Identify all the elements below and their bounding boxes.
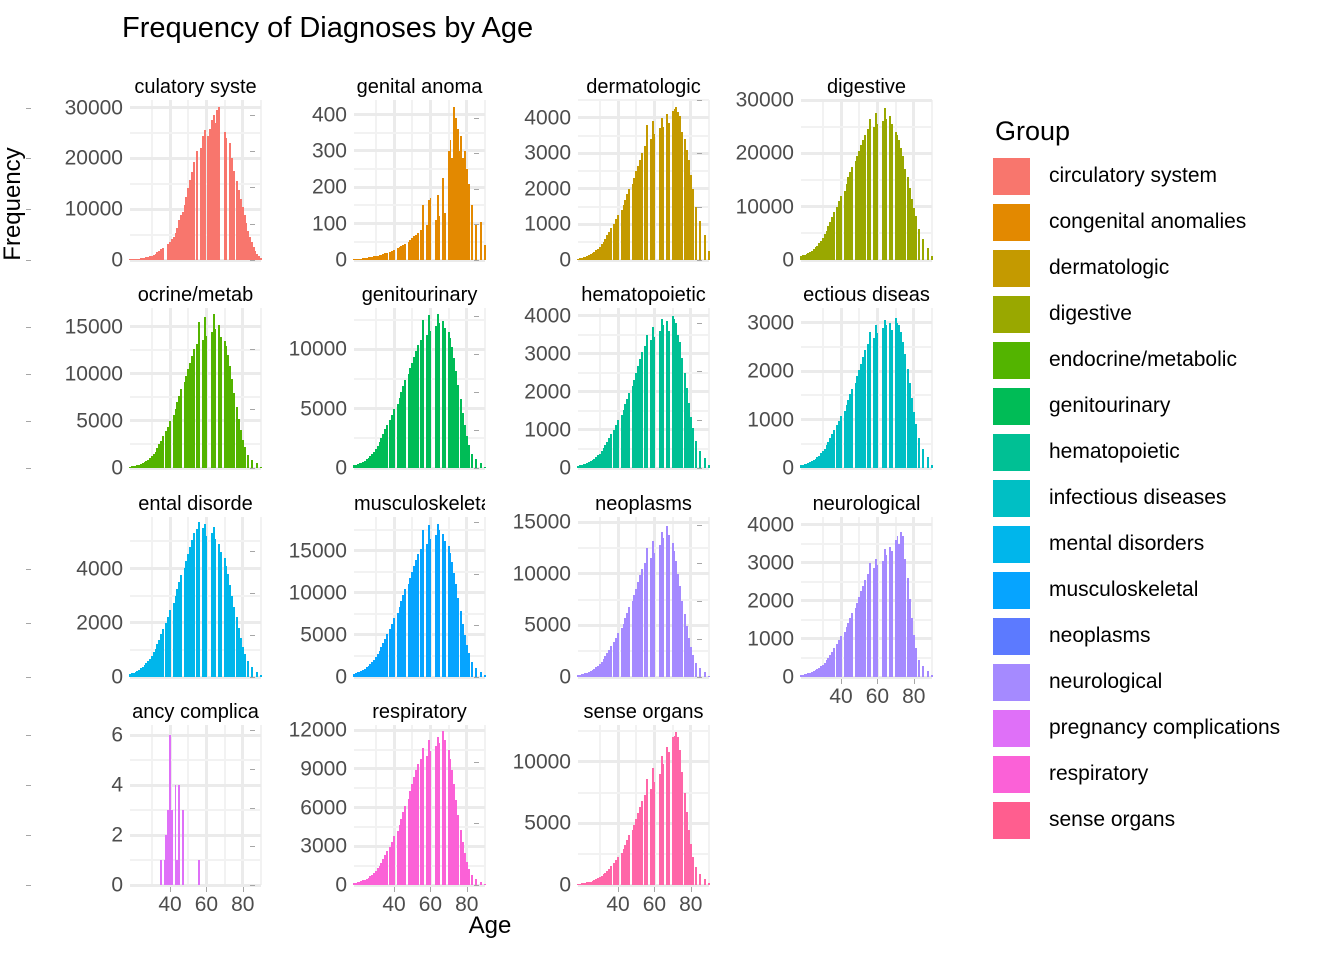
y-tick-label: 15000	[513, 512, 571, 533]
y-axis-ticks: 0100200300400	[255, 100, 347, 260]
y-axis-ticks: 0100020003000	[702, 308, 794, 468]
histogram-bar	[422, 748, 424, 885]
y-tick-mark	[697, 260, 702, 261]
y-tick-label: 0	[782, 250, 794, 271]
y-tick-label: 3000	[524, 343, 571, 364]
histogram-bar	[695, 663, 697, 677]
histogram-bar	[169, 610, 171, 677]
histogram-bar	[668, 331, 670, 468]
histogram-bar	[886, 325, 888, 468]
histogram-bar	[851, 613, 853, 677]
histogram-bar	[422, 205, 424, 260]
histogram-bar	[695, 867, 697, 885]
y-tick-label: 0	[559, 250, 571, 271]
plot-panel	[578, 308, 709, 468]
histogram-bar	[444, 740, 446, 885]
histogram-bar	[160, 860, 162, 885]
legend-swatch-icon	[993, 342, 1030, 379]
histogram-bars	[578, 100, 709, 260]
y-tick-mark	[474, 762, 479, 763]
histogram-bar	[393, 409, 395, 468]
legend-label: neoplasms	[1049, 624, 1151, 648]
histogram-bar	[430, 331, 432, 468]
chart-root: Frequency of Diagnoses by Age Frequency …	[0, 0, 1344, 960]
y-axis-ticks: 0246	[31, 725, 123, 885]
y-tick-label: 4000	[76, 558, 123, 579]
histogram-bar	[699, 451, 701, 468]
histogram-bar	[646, 125, 648, 260]
x-tick-mark	[430, 887, 431, 892]
y-axis-ticks: 0500010000	[479, 725, 571, 885]
y-axis-ticks: 0100002000030000	[31, 100, 123, 260]
y-tick-label: 4000	[524, 107, 571, 128]
legend-item[interactable]: congenital anomalies	[993, 199, 1343, 245]
histogram-bar	[840, 196, 842, 260]
histogram-bar	[904, 559, 906, 677]
histogram-bar	[251, 460, 253, 468]
y-tick-label: 0	[335, 875, 347, 896]
histogram-bar	[915, 424, 917, 468]
histogram-bar	[840, 636, 842, 677]
legend-label: pregnancy complications	[1049, 716, 1280, 740]
histogram-bar	[891, 330, 893, 468]
y-tick-mark	[697, 371, 702, 372]
histogram-bar	[699, 221, 701, 260]
histogram-bar	[233, 171, 235, 260]
histogram-bar	[430, 539, 432, 677]
histogram-bar	[457, 385, 459, 468]
y-tick-label: 1000	[747, 628, 794, 649]
y-tick-label: 1000	[747, 409, 794, 430]
histogram-bar	[178, 785, 180, 885]
y-tick-mark	[474, 430, 479, 431]
histogram-bar	[927, 457, 929, 468]
y-tick-label: 0	[782, 458, 794, 479]
legend-label: congenital anomalies	[1049, 210, 1246, 234]
facet-strip-label: ocrine/metab	[130, 282, 261, 308]
histogram-bar	[404, 589, 406, 677]
y-tick-mark	[474, 677, 479, 678]
y-tick-mark	[26, 569, 31, 570]
histogram-bar	[663, 325, 665, 468]
y-axis-ticks: 050001000015000	[255, 517, 347, 677]
histogram-bar	[864, 135, 866, 260]
y-tick-mark	[250, 409, 255, 410]
histogram-bar	[617, 633, 619, 677]
legend-label: neurological	[1049, 670, 1162, 694]
histogram-bar	[922, 239, 924, 260]
histogram-bar	[457, 598, 459, 677]
histogram-bar	[220, 337, 222, 468]
histogram-bar	[891, 551, 893, 677]
histogram-bar	[417, 233, 419, 260]
y-tick-mark	[250, 115, 255, 116]
y-tick-label: 0	[111, 667, 123, 688]
histogram-bar	[699, 874, 701, 885]
histogram-bar	[468, 184, 470, 260]
histogram-bar	[668, 752, 670, 885]
facet-strip-label: ectious diseas	[801, 282, 932, 308]
legend-swatch-icon	[993, 572, 1030, 609]
plot-panel	[578, 517, 709, 677]
histogram-bar	[931, 675, 933, 677]
y-tick-label: 10000	[65, 199, 123, 220]
plot-panel	[354, 308, 485, 468]
y-tick-label: 2	[111, 825, 123, 846]
legend-item[interactable]: pregnancy complications	[993, 705, 1343, 751]
histogram-bar	[444, 541, 446, 677]
y-tick-label: 5000	[524, 615, 571, 636]
histogram-bar	[468, 445, 470, 468]
y-tick-mark	[26, 108, 31, 109]
legend-item[interactable]: respiratory	[993, 751, 1343, 797]
histogram-bar	[439, 530, 441, 677]
plot-panel	[801, 100, 932, 260]
histogram-bar	[393, 250, 395, 260]
legend-swatch-icon	[993, 388, 1030, 425]
histogram-bar	[681, 772, 683, 885]
y-axis-ticks: 050001000015000	[31, 308, 123, 468]
y-tick-mark	[26, 785, 31, 786]
facet-strip-label: digestive	[801, 74, 932, 100]
histogram-bar	[386, 253, 388, 260]
histogram-bars	[130, 725, 261, 885]
histogram-bar	[471, 662, 473, 677]
y-tick-label: 4000	[524, 305, 571, 326]
histogram-bar	[193, 533, 195, 677]
histogram-bar	[162, 248, 164, 260]
histogram-bar	[610, 646, 612, 677]
y-tick-mark	[250, 260, 255, 261]
histogram-bar	[251, 667, 253, 677]
plot-panel	[578, 725, 709, 885]
histogram-bar	[833, 430, 835, 468]
histogram-bar	[628, 189, 630, 260]
legend-item[interactable]: genitourinary	[993, 383, 1343, 429]
x-tick-label: 40	[382, 894, 405, 915]
y-tick-label: 100	[312, 213, 347, 234]
y-tick-mark	[250, 551, 255, 552]
y-tick-label: 0	[335, 667, 347, 688]
histogram-bar	[833, 212, 835, 260]
histogram-bar	[226, 138, 228, 260]
histogram-bar	[668, 535, 670, 677]
y-tick-mark	[26, 260, 31, 261]
histogram-bar	[904, 169, 906, 260]
histogram-bar	[681, 132, 683, 260]
histogram-bar	[193, 162, 195, 260]
legend-label: infectious diseases	[1049, 486, 1226, 510]
histogram-bar	[468, 653, 470, 677]
y-tick-mark	[250, 187, 255, 188]
legend-item[interactable]: musculoskeletal	[993, 567, 1343, 613]
histogram-bar	[198, 322, 200, 468]
legend-item[interactable]: hematopoietic	[993, 429, 1343, 475]
histogram-bar	[393, 836, 395, 885]
x-tick-label: 40	[158, 894, 181, 915]
histogram-bars	[130, 308, 261, 468]
histogram-bar	[198, 860, 200, 885]
x-tick-label: 80	[902, 686, 925, 707]
histogram-bar	[927, 248, 929, 260]
plot-panel	[578, 100, 709, 260]
y-tick-mark	[26, 735, 31, 736]
y-tick-mark	[250, 730, 255, 731]
legend-item[interactable]: neurological	[993, 659, 1343, 705]
y-tick-mark	[26, 158, 31, 159]
histogram-bar	[704, 879, 706, 885]
histogram-bars	[130, 517, 261, 677]
plot-panel	[801, 308, 932, 468]
histogram-bar	[457, 815, 459, 885]
histogram-bars	[801, 308, 932, 468]
legend-label: circulatory system	[1049, 164, 1217, 188]
legend-swatch-icon	[993, 158, 1030, 195]
y-tick-mark	[474, 118, 479, 119]
legend-item[interactable]: neoplasms	[993, 613, 1343, 659]
y-tick-mark	[250, 808, 255, 809]
y-tick-label: 15000	[289, 540, 347, 561]
histogram-bars	[801, 517, 932, 677]
histogram-bar	[922, 666, 924, 677]
histogram-bar	[891, 124, 893, 260]
plot-panel	[354, 725, 485, 885]
y-tick-label: 30000	[736, 90, 794, 111]
histogram-bar	[244, 447, 246, 468]
histogram-bar	[475, 224, 477, 260]
y-tick-label: 2000	[524, 178, 571, 199]
y-tick-mark	[474, 189, 479, 190]
histogram-bar	[386, 851, 388, 885]
histogram-bar	[886, 555, 888, 677]
histogram-bar	[244, 654, 246, 677]
y-tick-label: 3000	[747, 552, 794, 573]
legend-swatch-icon	[993, 250, 1030, 287]
histogram-bar	[877, 124, 879, 260]
y-tick-label: 4000	[747, 514, 794, 535]
histogram-bar	[904, 354, 906, 468]
legend-label: dermatologic	[1049, 256, 1169, 280]
histogram-bars	[578, 725, 709, 885]
y-tick-label: 2000	[747, 361, 794, 382]
y-tick-label: 9000	[300, 758, 347, 779]
y-tick-mark	[474, 392, 479, 393]
histogram-bar	[206, 336, 208, 468]
y-axis-ticks: 030006000900012000	[255, 725, 347, 885]
histogram-bar	[692, 428, 694, 468]
x-tick-mark	[914, 679, 915, 684]
histogram-bar	[439, 323, 441, 468]
x-axis: 406080	[354, 887, 485, 917]
y-tick-label: 2000	[76, 612, 123, 633]
histogram-bar	[922, 449, 924, 468]
y-tick-label: 0	[111, 250, 123, 271]
histogram-bar	[386, 634, 388, 677]
legend-label: musculoskeletal	[1049, 578, 1198, 602]
y-axis-ticks: 01000200030004000	[702, 517, 794, 677]
histogram-bar	[833, 648, 835, 677]
x-axis: 406080	[801, 679, 932, 709]
facet-strip-label: dermatologic	[578, 74, 709, 100]
y-tick-label: 0	[111, 458, 123, 479]
histogram-bar	[692, 189, 694, 260]
y-tick-label: 20000	[65, 148, 123, 169]
x-tick-mark	[206, 887, 207, 892]
histogram-bar	[404, 244, 406, 260]
histogram-bar	[169, 421, 171, 468]
histogram-bar	[641, 153, 643, 260]
histogram-bar	[918, 438, 920, 468]
y-tick-label: 0	[782, 667, 794, 688]
histogram-bar	[220, 552, 222, 677]
y-tick-mark	[474, 823, 479, 824]
y-tick-label: 0	[335, 458, 347, 479]
y-tick-label: 5000	[300, 398, 347, 419]
y-tick-label: 3000	[747, 312, 794, 333]
histogram-bar	[927, 671, 929, 677]
histogram-bar	[471, 875, 473, 885]
legend-swatch-icon	[993, 618, 1030, 655]
y-tick-mark	[250, 846, 255, 847]
histogram-bar	[610, 228, 612, 260]
histogram-bar	[851, 167, 853, 260]
histogram-bar	[654, 134, 656, 260]
y-tick-mark	[26, 677, 31, 678]
histogram-bar	[404, 806, 406, 885]
y-tick-mark	[474, 316, 479, 317]
x-tick-label: 60	[643, 894, 666, 915]
histogram-bar	[654, 553, 656, 677]
y-tick-mark	[26, 623, 31, 624]
histogram-bar	[641, 801, 643, 885]
histogram-bars	[578, 308, 709, 468]
histogram-bar	[471, 205, 473, 260]
histogram-bar	[215, 329, 217, 468]
x-tick-label: 40	[606, 894, 629, 915]
histogram-bars	[801, 100, 932, 260]
legend-title: Group	[995, 118, 1343, 145]
x-tick-mark	[691, 887, 692, 892]
histogram-bar	[628, 393, 630, 468]
histogram-bar	[695, 441, 697, 468]
y-tick-mark	[697, 639, 702, 640]
legend-item[interactable]: circulatory system	[993, 153, 1343, 199]
histogram-bar	[931, 465, 933, 468]
y-tick-mark	[250, 468, 255, 469]
legend-item[interactable]: sense organs	[993, 797, 1343, 843]
histogram-bar	[869, 119, 871, 260]
legend-item[interactable]: dermatologic	[993, 245, 1343, 291]
y-axis-ticks: 0500010000	[255, 308, 347, 468]
histogram-bar	[877, 333, 879, 468]
y-tick-label: 0	[559, 875, 571, 896]
y-tick-mark	[250, 593, 255, 594]
histogram-bar	[444, 328, 446, 468]
histogram-bar	[247, 661, 249, 677]
y-tick-mark	[474, 625, 479, 626]
y-tick-label: 3000	[524, 143, 571, 164]
legend-item[interactable]: endocrine/metabolic	[993, 337, 1343, 383]
y-tick-label: 10000	[289, 339, 347, 360]
y-tick-mark	[474, 522, 479, 523]
histogram-bar	[404, 380, 406, 468]
histogram-bars	[354, 100, 485, 260]
histogram-bar	[182, 810, 184, 885]
x-tick-mark	[877, 679, 878, 684]
y-tick-label: 5000	[300, 624, 347, 645]
facet-strip-label: ental disorde	[130, 491, 261, 517]
histogram-bar	[628, 835, 630, 885]
y-tick-label: 0	[559, 458, 571, 479]
histogram-bar	[475, 459, 477, 468]
histogram-bar	[918, 229, 920, 260]
facet-strip-label: neurological	[801, 491, 932, 517]
histogram-bar	[430, 751, 432, 885]
facet-strip-label: genital anoma	[354, 74, 485, 100]
y-tick-mark	[250, 769, 255, 770]
x-tick-label: 40	[829, 686, 852, 707]
histogram-bar	[681, 601, 683, 677]
y-tick-label: 5000	[524, 813, 571, 834]
y-tick-label: 300	[312, 140, 347, 161]
y-axis-ticks: 0100002000030000	[702, 100, 794, 260]
histogram-bar	[180, 575, 182, 677]
histogram-bar	[417, 554, 419, 677]
legend-label: genitourinary	[1049, 394, 1170, 418]
legend-item[interactable]: mental disorders	[993, 521, 1343, 567]
legend-swatch-icon	[993, 296, 1030, 333]
legend-items: circulatory systemcongenital anomaliesde…	[993, 153, 1343, 843]
y-axis-ticks: 050001000015000	[479, 517, 571, 677]
histogram-bar	[206, 536, 208, 677]
histogram-bar	[877, 565, 879, 677]
x-axis: 406080	[578, 887, 709, 917]
histogram-bar	[215, 539, 217, 677]
y-tick-label: 1000	[524, 419, 571, 440]
y-tick-mark	[474, 354, 479, 355]
page-title: Frequency of Diagnoses by Age	[122, 12, 533, 45]
histogram-bar	[663, 538, 665, 677]
legend-swatch-icon	[993, 204, 1030, 241]
facet-strip-label: culatory syste	[130, 74, 261, 100]
legend: Group circulatory systemcongenital anoma…	[993, 118, 1343, 843]
facet-strip-label: sense organs	[578, 699, 709, 725]
y-tick-mark	[26, 835, 31, 836]
y-tick-mark	[697, 420, 702, 421]
legend-item[interactable]: digestive	[993, 291, 1343, 337]
histogram-bar	[162, 629, 164, 677]
histogram-bars	[354, 308, 485, 468]
histogram-bar	[646, 548, 648, 677]
x-tick-mark	[394, 887, 395, 892]
y-tick-mark	[250, 635, 255, 636]
histogram-bar	[915, 216, 917, 260]
y-tick-mark	[250, 885, 255, 886]
histogram-bar	[417, 345, 419, 468]
histogram-bar	[233, 607, 235, 678]
y-tick-mark	[474, 260, 479, 261]
y-tick-mark	[26, 327, 31, 328]
y-tick-mark	[697, 563, 702, 564]
histogram-bar	[198, 522, 200, 677]
legend-swatch-icon	[993, 756, 1030, 793]
x-tick-label: 80	[679, 894, 702, 915]
legend-item[interactable]: infectious diseases	[993, 475, 1343, 521]
facet-strip-label: respiratory	[354, 699, 485, 725]
y-tick-mark	[697, 601, 702, 602]
histogram-bar	[692, 655, 694, 677]
histogram-bar	[430, 198, 432, 260]
